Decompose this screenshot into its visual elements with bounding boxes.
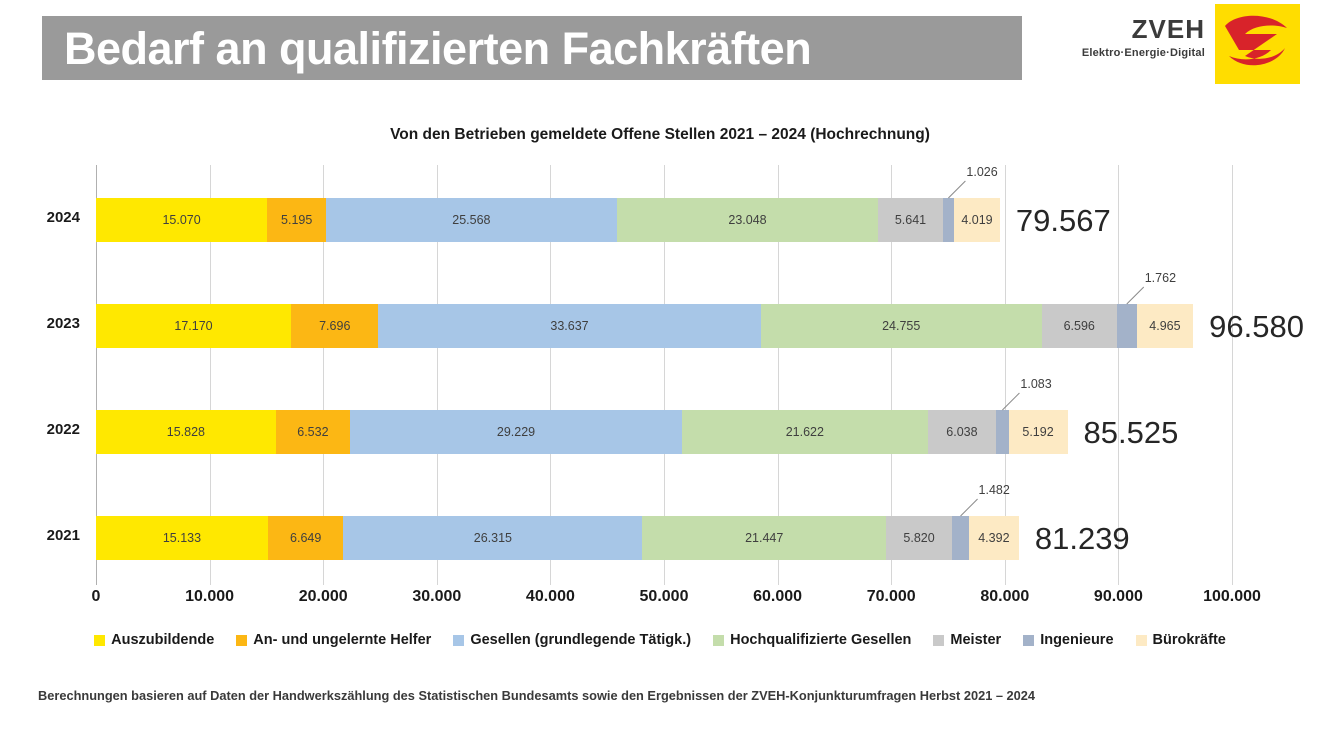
legend-swatch-icon	[236, 635, 247, 646]
title-banner: Bedarf an qualifizierten Fachkräften	[42, 16, 1022, 80]
x-axis-tick-label: 0	[92, 588, 101, 606]
legend-swatch-icon	[933, 635, 944, 646]
bar-segment[interactable]: 5.641	[878, 198, 942, 242]
x-axis-tick-label: 80.000	[980, 588, 1029, 606]
stacked-bar[interactable]: 15.8286.53229.22921.6226.0385.192	[96, 410, 1068, 454]
chart-row: 202115.1336.64926.31521.4475.8204.3921.4…	[96, 483, 1232, 589]
legend-item[interactable]: Auszubildende	[94, 632, 214, 648]
bar-segment[interactable]: 24.755	[761, 304, 1042, 348]
bar-segment-callout-label: 1.026	[966, 165, 997, 179]
y-axis-tick-label: 2024	[18, 209, 80, 226]
bar-segment[interactable]: 15.133	[96, 516, 268, 560]
legend-item[interactable]: An- und ungelernte Helfer	[236, 632, 431, 648]
chart-row: 202415.0705.19525.56823.0485.6414.0191.0…	[96, 165, 1232, 271]
bar-segment[interactable]: 5.820	[886, 516, 952, 560]
bar-segment[interactable]: 15.828	[96, 410, 276, 454]
bar-segment[interactable]: 23.048	[617, 198, 879, 242]
legend-label: Meister	[950, 632, 1001, 648]
bar-segment[interactable]: 5.192	[1009, 410, 1068, 454]
bar-segment[interactable]: 6.649	[268, 516, 344, 560]
legend-swatch-icon	[94, 635, 105, 646]
chart-row: 202317.1707.69633.63724.7556.5964.9651.7…	[96, 271, 1232, 377]
legend-swatch-icon	[1136, 635, 1147, 646]
legend-label: Ingenieure	[1040, 632, 1113, 648]
bar-segment[interactable]: 21.622	[682, 410, 928, 454]
bar-total-label: 85.525	[1084, 415, 1179, 451]
legend-swatch-icon	[1023, 635, 1034, 646]
legend-swatch-icon	[453, 635, 464, 646]
legend-item[interactable]: Bürokräfte	[1136, 632, 1226, 648]
legend-label: Gesellen (grundlegende Tätigk.)	[470, 632, 691, 648]
footer-note: Berechnungen basieren auf Daten der Hand…	[38, 688, 1288, 703]
legend-label: Auszubildende	[111, 632, 214, 648]
x-axis-tick-label: 10.000	[185, 588, 234, 606]
chart-row: 202215.8286.53229.22921.6226.0385.1921.0…	[96, 377, 1232, 483]
y-axis-tick-label: 2021	[18, 527, 80, 544]
bar-segment[interactable]: 17.170	[96, 304, 291, 348]
gridline	[1232, 165, 1233, 585]
bar-segment-callout-label: 1.083	[1020, 377, 1051, 391]
bar-segment[interactable]	[996, 410, 1008, 454]
logo-tagline: Elektro·Energie·Digital	[1055, 48, 1205, 59]
x-axis-tick-label: 100.000	[1203, 588, 1261, 606]
bar-segment[interactable]: 29.229	[350, 410, 682, 454]
bar-segment-callout-label: 1.762	[1145, 271, 1176, 285]
bar-segment[interactable]: 6.038	[928, 410, 997, 454]
x-axis-tick-label: 70.000	[867, 588, 916, 606]
zveh-swoosh-icon	[1215, 4, 1300, 84]
bar-segment[interactable]: 5.195	[267, 198, 326, 242]
logo-wordmark: ZVEH	[1055, 16, 1205, 42]
legend-item[interactable]: Meister	[933, 632, 1001, 648]
chart-title: Von den Betrieben gemeldete Offene Stell…	[0, 126, 1320, 144]
zveh-logo: ZVEH Elektro·Energie·Digital	[1055, 4, 1305, 84]
page-header: Bedarf an qualifizierten Fachkräften ZVE…	[0, 0, 1320, 96]
bar-total-label: 81.239	[1035, 521, 1130, 557]
x-axis-tick-label: 30.000	[412, 588, 461, 606]
legend-label: An- und ungelernte Helfer	[253, 632, 431, 648]
bar-segment[interactable]: 26.315	[343, 516, 642, 560]
bar-segment-callout-label: 1.482	[979, 483, 1010, 497]
bar-segment[interactable]	[952, 516, 969, 560]
legend-item[interactable]: Hochqualifizierte Gesellen	[713, 632, 911, 648]
bar-segment[interactable]: 7.696	[291, 304, 378, 348]
chart-legend: AuszubildendeAn- und ungelernte HelferGe…	[0, 632, 1320, 648]
legend-swatch-icon	[713, 635, 724, 646]
bar-segment[interactable]	[1117, 304, 1137, 348]
bar-segment[interactable]: 4.019	[954, 198, 1000, 242]
bar-segment[interactable]: 21.447	[642, 516, 886, 560]
bar-segment[interactable]: 4.965	[1137, 304, 1193, 348]
bar-segment[interactable]: 6.596	[1042, 304, 1117, 348]
x-axis: 010.00020.00030.00040.00050.00060.00070.…	[96, 588, 1232, 614]
legend-item[interactable]: Ingenieure	[1023, 632, 1113, 648]
stacked-bar[interactable]: 15.0705.19525.56823.0485.6414.019	[96, 198, 1000, 242]
bar-segment[interactable]: 4.392	[969, 516, 1019, 560]
footer-divider	[38, 673, 1282, 674]
stacked-bar[interactable]: 17.1707.69633.63724.7556.5964.965	[96, 304, 1193, 348]
x-axis-tick-label: 60.000	[753, 588, 802, 606]
legend-item[interactable]: Gesellen (grundlegende Tätigk.)	[453, 632, 691, 648]
y-axis-tick-label: 2023	[18, 315, 80, 332]
x-axis-tick-label: 50.000	[640, 588, 689, 606]
x-axis-tick-label: 90.000	[1094, 588, 1143, 606]
legend-label: Bürokräfte	[1153, 632, 1226, 648]
bar-segment[interactable]: 33.637	[378, 304, 760, 348]
bar-segment[interactable]: 6.532	[276, 410, 350, 454]
legend-label: Hochqualifizierte Gesellen	[730, 632, 911, 648]
bar-total-label: 79.567	[1016, 203, 1111, 239]
chart-plot-area: 202415.0705.19525.56823.0485.6414.0191.0…	[96, 165, 1232, 585]
bar-total-label: 96.580	[1209, 309, 1304, 345]
y-axis-tick-label: 2022	[18, 421, 80, 438]
page-title: Bedarf an qualifizierten Fachkräften	[64, 26, 811, 71]
x-axis-tick-label: 20.000	[299, 588, 348, 606]
stacked-bar[interactable]: 15.1336.64926.31521.4475.8204.392	[96, 516, 1019, 560]
bar-segment[interactable]	[943, 198, 955, 242]
bar-segment[interactable]: 25.568	[326, 198, 616, 242]
x-axis-tick-label: 40.000	[526, 588, 575, 606]
bar-segment[interactable]: 15.070	[96, 198, 267, 242]
